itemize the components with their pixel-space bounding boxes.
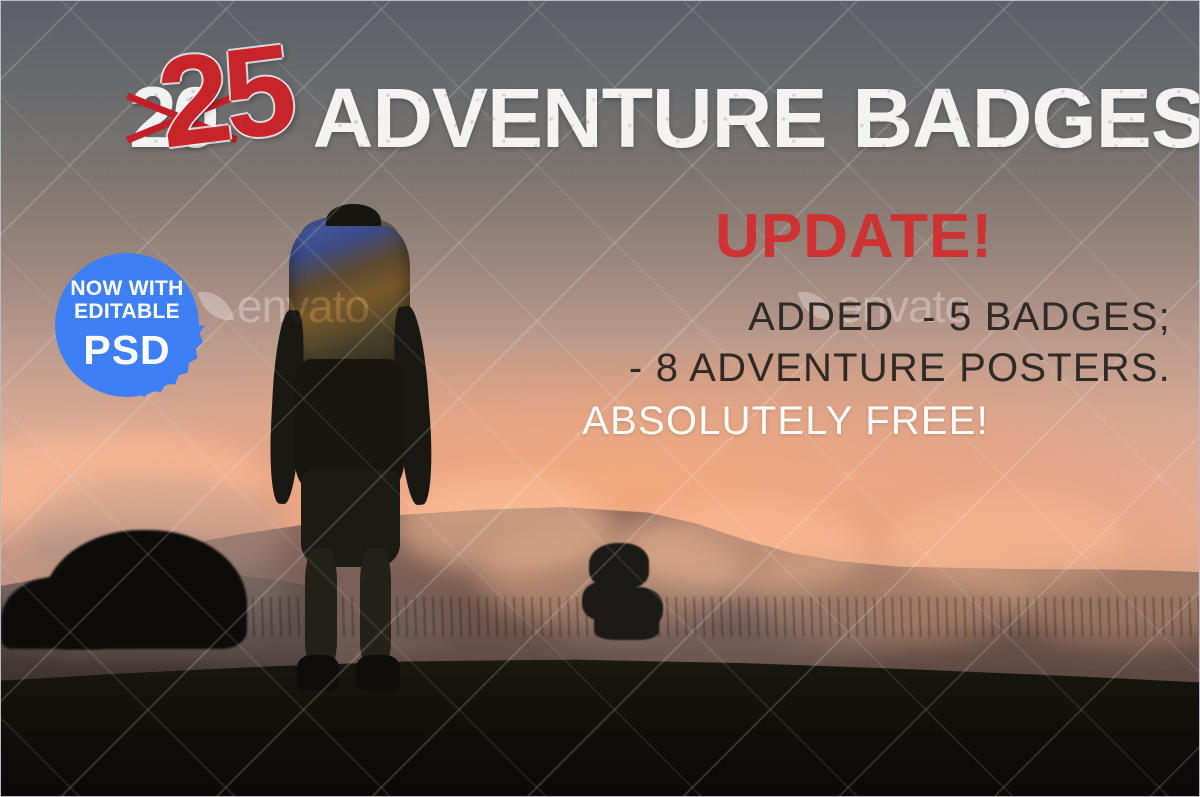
badge-line-1: NOW WITH [70, 278, 183, 301]
update-copy-block: UPDATE! ADDED- 5 BADGES; - 8 ADVENTURE P… [471, 206, 1171, 446]
rock-cairn-silhouette [582, 543, 666, 638]
added-line-1: ADDED- 5 BADGES; [471, 294, 1171, 341]
title-word-adventure: ADVENTURE [313, 71, 827, 165]
badge-content: NOW WITH EDITABLE PSD [49, 247, 205, 403]
year-replacement-group: 20 25 [129, 75, 215, 161]
title-main-words: ADVENTUREBADGES [313, 76, 1200, 160]
hiker-silhouette [247, 204, 457, 689]
editable-psd-badge[interactable]: NOW WITH EDITABLE PSD [49, 247, 205, 403]
envato-watermark-text: envato [237, 279, 369, 333]
envato-watermark-left: envato [201, 279, 369, 333]
absolutely-free-text: ABSOLUTELY FREE! [471, 398, 1171, 445]
new-year-text: 25 [152, 26, 297, 169]
title-word-badges: BADGES [852, 71, 1200, 165]
added-item-badges: - 5 BADGES; [922, 295, 1171, 339]
added-line-2: - 8 ADVENTURE POSTERS. [471, 345, 1171, 392]
badge-line-3: PSD [83, 328, 170, 372]
update-heading: UPDATE! [471, 206, 1171, 268]
added-item-posters: - 8 ADVENTURE POSTERS. [629, 346, 1171, 390]
badge-line-2: EDITABLE [74, 301, 180, 324]
poster-title: 20 25 ADVENTUREBADGES [1, 63, 1199, 173]
adventure-badges-poster: envato envato 20 25 ADVENTUREBADGES NOW … [0, 0, 1200, 797]
added-label: ADDED [748, 295, 894, 339]
